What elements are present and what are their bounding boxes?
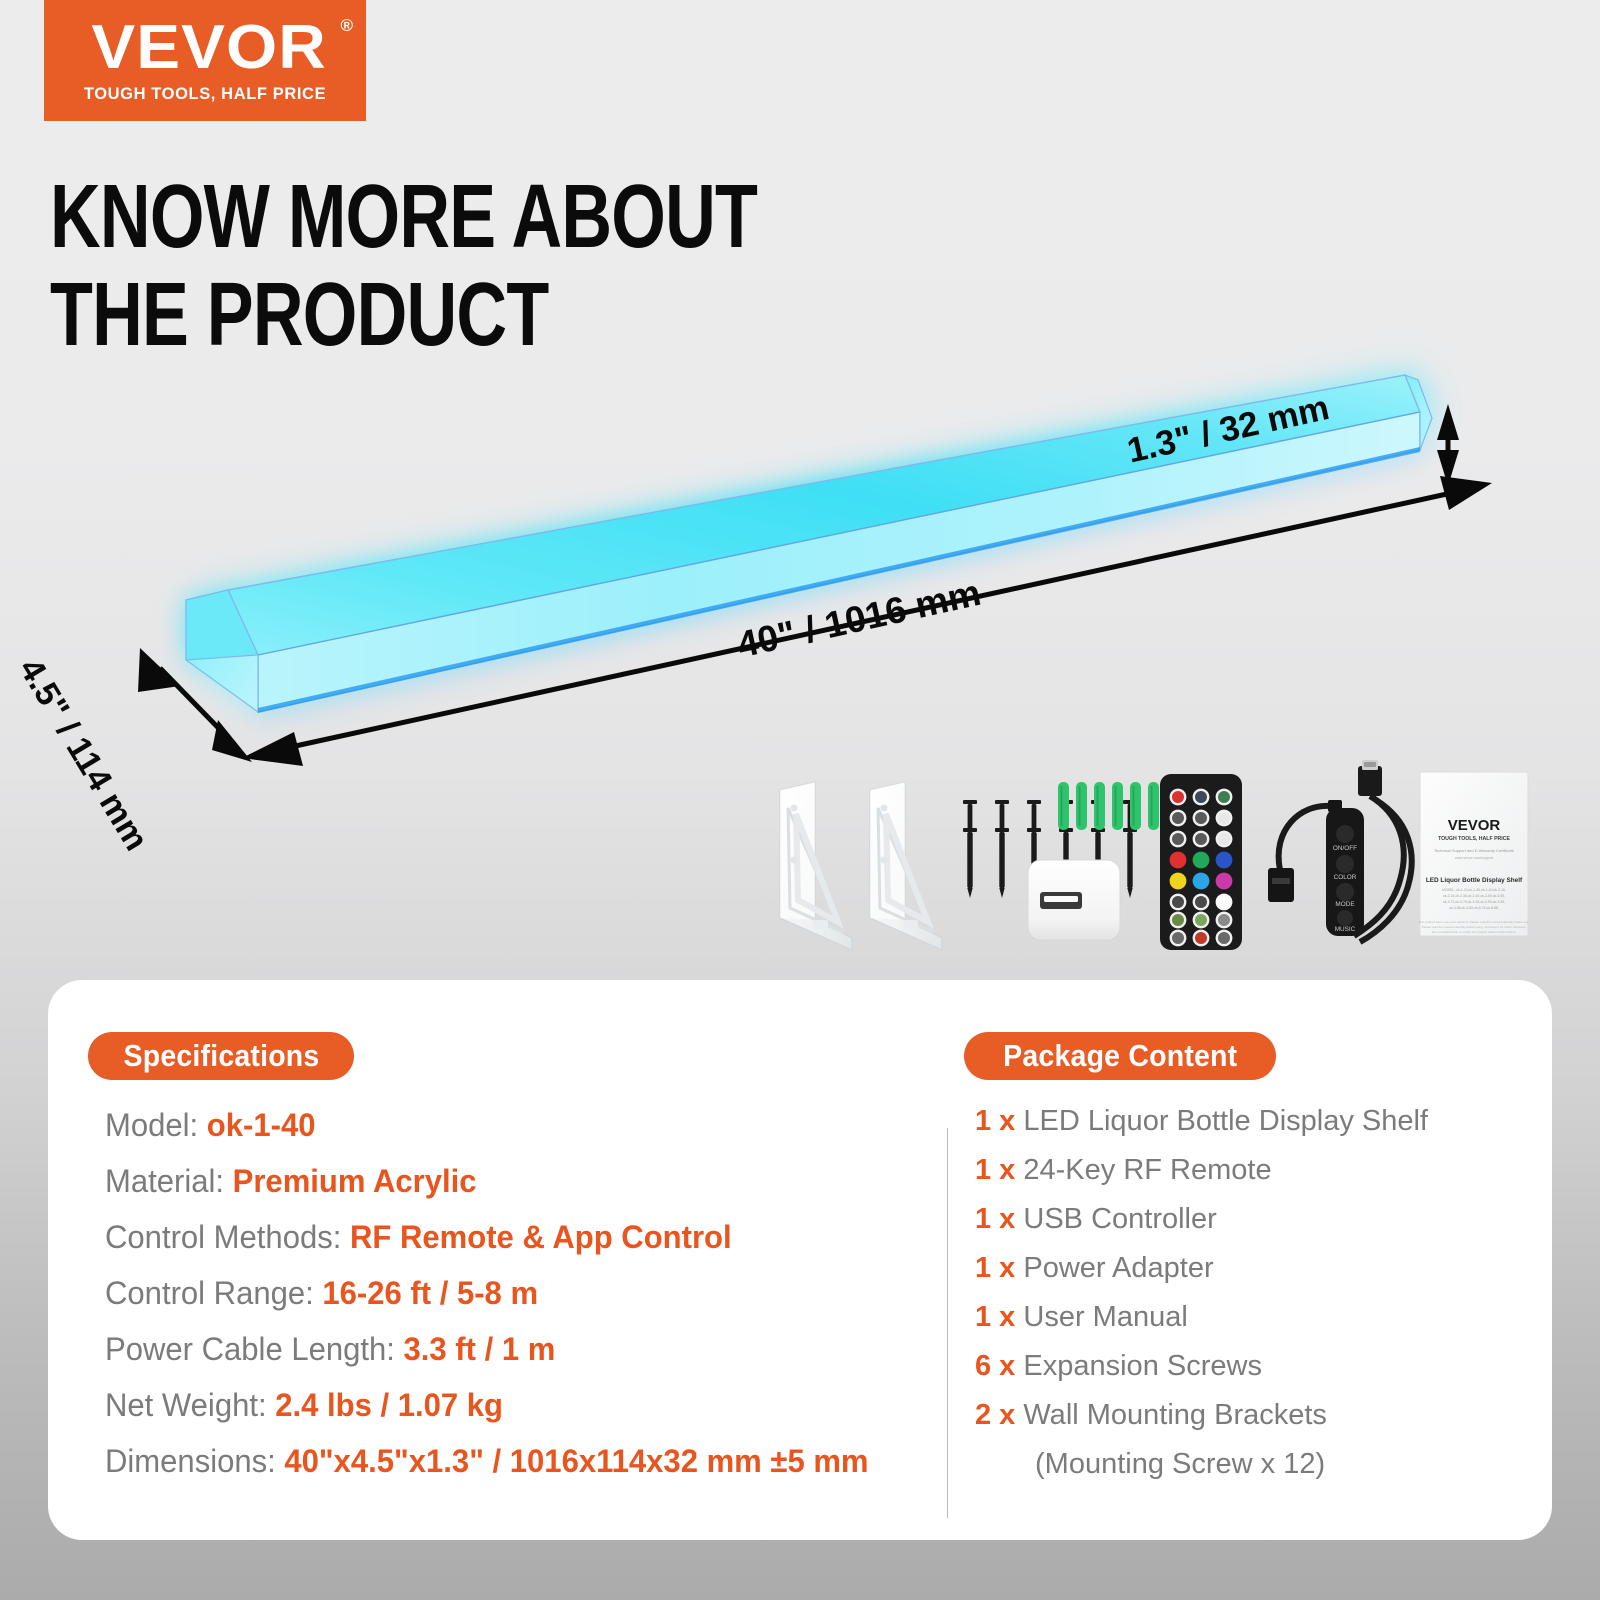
accessories-row: ON/OFF COLOR MODE MUSIC VEVOR TOUGH TOOL… xyxy=(760,760,1560,960)
package-row-adapter: 1 x Power Adapter xyxy=(975,1244,1515,1293)
spec-value: 3.3 ft / 1 m xyxy=(404,1331,556,1367)
package-qty: 1 x xyxy=(975,1154,1015,1186)
svg-text:Do not disassemble or modify t: Do not disassemble or modify the product… xyxy=(1432,930,1517,934)
svg-text:ok-3-72,ok-3-76,ok-3-28,ok-3-5: ok-3-72,ok-3-76,ok-3-28,ok-3-55,ok-3-95, xyxy=(1443,900,1505,904)
spec-value: RF Remote & App Control xyxy=(350,1219,732,1255)
wall-mounting-bracket-2 xyxy=(870,782,942,950)
registered-trademark-icon: ® xyxy=(340,16,353,36)
svg-text:Technical Support and E-Warran: Technical Support and E-Warranty Certifi… xyxy=(1434,848,1515,853)
mounting-screws-short xyxy=(963,800,1137,836)
svg-text:MODE: MODE xyxy=(1335,901,1354,908)
product-illustration xyxy=(0,300,1600,820)
package-item: 24-Key RF Remote xyxy=(1023,1154,1271,1186)
spec-value: 16-26 ft / 5-8 m xyxy=(322,1275,538,1311)
package-content-title: Package Content xyxy=(964,1032,1276,1080)
spec-label: Material: xyxy=(105,1163,224,1199)
thickness-dimension-arrow xyxy=(1437,404,1459,486)
package-row-brackets: 2 x Wall Mounting Brackets xyxy=(975,1391,1515,1440)
package-row-manual: 1 x User Manual xyxy=(975,1293,1515,1342)
spec-value: ok-1-40 xyxy=(207,1107,316,1143)
specifications-list: Model: ok-1-40 Material: Premium Acrylic… xyxy=(105,1097,935,1489)
svg-text:Please read the manual careful: Please read the manual carefully before … xyxy=(1422,925,1527,929)
spec-label: Model: xyxy=(105,1107,198,1143)
package-row-controller: 1 x USB Controller xyxy=(975,1195,1515,1244)
wall-mounting-bracket-1 xyxy=(780,782,852,950)
package-qty: 1 x xyxy=(975,1252,1015,1284)
package-item: Wall Mounting Brackets xyxy=(1023,1399,1327,1431)
package-row-shelf: 1 x LED Liquor Bottle Display Shelf xyxy=(975,1097,1515,1146)
specifications-title: Specifications xyxy=(88,1032,354,1080)
specifications-title-label: Specifications xyxy=(123,1038,319,1074)
logo-wordmark: VEVOR xyxy=(91,18,326,78)
package-content-list: 1 x LED Liquor Bottle Display Shelf 1 x … xyxy=(975,1097,1515,1489)
package-item: User Manual xyxy=(1023,1301,1187,1333)
spec-value: Premium Acrylic xyxy=(233,1163,477,1199)
remote-keys xyxy=(1170,789,1233,947)
spec-row-power-cable-length: Power Cable Length: 3.3 ft / 1 m xyxy=(105,1321,910,1377)
spec-row-control-range: Control Range: 16-26 ft / 5-8 m xyxy=(105,1265,910,1321)
package-item: Expansion Screws xyxy=(1023,1350,1262,1382)
spec-row-material: Material: Premium Acrylic xyxy=(105,1153,910,1209)
spec-label: Power Cable Length: xyxy=(105,1331,395,1367)
page-title-line-1: KNOW MORE ABOUT xyxy=(50,168,752,266)
svg-text:This product has a one-year wa: This product has a one-year warranty. Pl… xyxy=(1419,920,1530,924)
svg-text:www.vevor.com/support: www.vevor.com/support xyxy=(1455,856,1493,860)
power-adapter xyxy=(1028,860,1120,940)
package-item: LED Liquor Bottle Display Shelf xyxy=(1023,1105,1428,1137)
spec-row-dimensions: Dimensions: 40"x4.5"x1.3" / 1016x114x32 … xyxy=(105,1433,910,1489)
spec-label: Net Weight: xyxy=(105,1387,267,1423)
svg-text:VEVOR: VEVOR xyxy=(1448,817,1501,834)
package-item: USB Controller xyxy=(1023,1203,1216,1235)
shelf-3d-svg xyxy=(0,300,1600,820)
spec-label: Dimensions: xyxy=(105,1443,276,1479)
svg-text:MODEL: ok-1-24,ok-1-36,ok-1-40: MODEL: ok-1-24,ok-1-36,ok-1-40,ok-2-16, xyxy=(1442,888,1506,892)
package-qty: 6 x xyxy=(975,1350,1015,1382)
spec-value: 2.4 lbs / 1.07 kg xyxy=(275,1387,503,1423)
spec-row-net-weight: Net Weight: 2.4 lbs / 1.07 kg xyxy=(105,1377,910,1433)
expansion-anchors xyxy=(1058,782,1159,830)
svg-text:COLOR: COLOR xyxy=(1334,874,1357,881)
spec-row-model: Model: ok-1-40 xyxy=(105,1097,910,1153)
column-divider xyxy=(947,1128,948,1518)
vevor-logo: VEVOR ® TOUGH TOOLS, HALF PRICE xyxy=(44,0,366,121)
svg-text:TOUGH TOOLS, HALF PRICE: TOUGH TOOLS, HALF PRICE xyxy=(1438,836,1510,842)
package-qty: 1 x xyxy=(975,1301,1015,1333)
package-item: Power Adapter xyxy=(1023,1252,1213,1284)
spec-label: Control Methods: xyxy=(105,1219,341,1255)
logo-tagline: TOUGH TOOLS, HALF PRICE xyxy=(84,85,326,104)
spec-label: Control Range: xyxy=(105,1275,314,1311)
package-row-note: (Mounting Screw x 12) xyxy=(975,1440,1515,1489)
svg-text:LED Liquor Bottle Display Shel: LED Liquor Bottle Display Shelf xyxy=(1426,877,1523,884)
package-qty: 1 x xyxy=(975,1105,1015,1137)
usb-controller: ON/OFF COLOR MODE MUSIC xyxy=(1268,760,1412,942)
infographic-page: VEVOR ® TOUGH TOOLS, HALF PRICE KNOW MOR… xyxy=(0,0,1600,1600)
package-content-title-label: Package Content xyxy=(1003,1038,1237,1074)
user-manual: VEVOR TOUGH TOOLS, HALF PRICE Technical … xyxy=(1419,772,1530,936)
svg-text:ok-3-88,ok-3-65,ok-8-76,ok-8-8: ok-3-88,ok-3-65,ok-8-76,ok-8-88, xyxy=(1449,906,1499,910)
rf-remote xyxy=(1160,774,1242,950)
svg-text:MUSIC: MUSIC xyxy=(1335,926,1356,933)
package-row-remote: 1 x 24-Key RF Remote xyxy=(975,1146,1515,1195)
spec-value: 40"x4.5"x1.3" / 1016x114x32 mm ±5 mm xyxy=(284,1443,868,1479)
package-row-expansion-screws: 6 x Expansion Screws xyxy=(975,1342,1515,1391)
package-qty: 2 x xyxy=(975,1399,1015,1431)
svg-text:ON/OFF: ON/OFF xyxy=(1333,845,1357,852)
svg-text:ok-2-24,ok-2-36,ok-2-40,ok-2-6: ok-2-24,ok-2-36,ok-2-40,ok-2-60,ok-3-95, xyxy=(1443,894,1505,898)
package-qty: 1 x xyxy=(975,1203,1015,1235)
spec-row-control-methods: Control Methods: RF Remote & App Control xyxy=(105,1209,910,1265)
